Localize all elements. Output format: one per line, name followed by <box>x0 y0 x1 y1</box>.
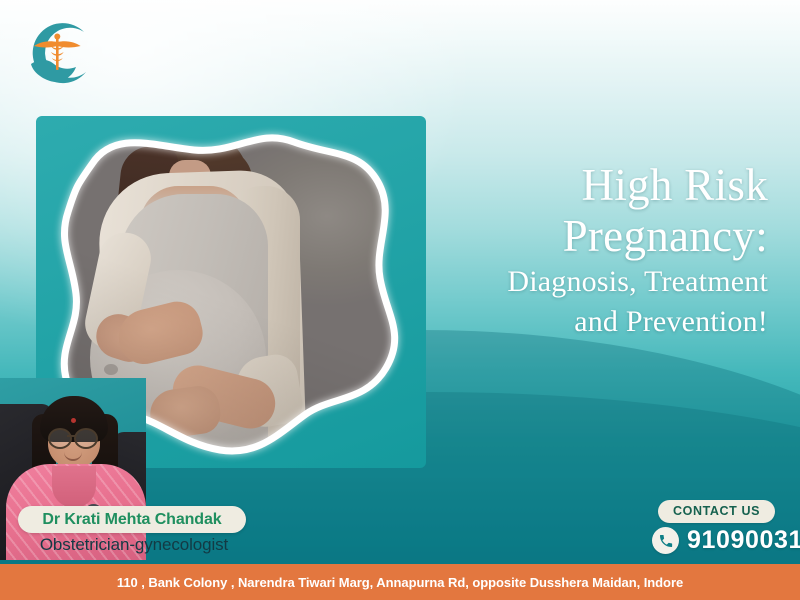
contact-us-badge[interactable]: CONTACT US <box>658 500 775 523</box>
caduceus-in-hand-icon <box>14 12 100 98</box>
headline-line-3: Diagnosis, Treatment <box>298 262 768 302</box>
phone-number: 9109003103 <box>687 526 800 555</box>
headline-line-4: and Prevention! <box>298 302 768 342</box>
address-text: 110 , Bank Colony , Narendra Tiwari Marg… <box>117 575 683 590</box>
doctor-name-badge: Dr Krati Mehta Chandak <box>18 506 246 533</box>
headline-line-1: High Risk <box>298 160 768 210</box>
headline-line-2: Pregnancy: <box>298 210 768 262</box>
phone-handset-icon <box>652 527 679 554</box>
address-bar: 110 , Bank Colony , Narendra Tiwari Marg… <box>0 564 800 600</box>
phone-row[interactable]: 9109003103 <box>652 526 800 555</box>
doctor-role: Obstetrician-gynecologist <box>18 535 250 555</box>
promotional-poster: High Risk Pregnancy: Diagnosis, Treatmen… <box>0 0 800 600</box>
doctor-name: Dr Krati Mehta Chandak <box>42 511 221 529</box>
clinic-logo <box>14 12 100 98</box>
headline: High Risk Pregnancy: Diagnosis, Treatmen… <box>298 160 768 342</box>
